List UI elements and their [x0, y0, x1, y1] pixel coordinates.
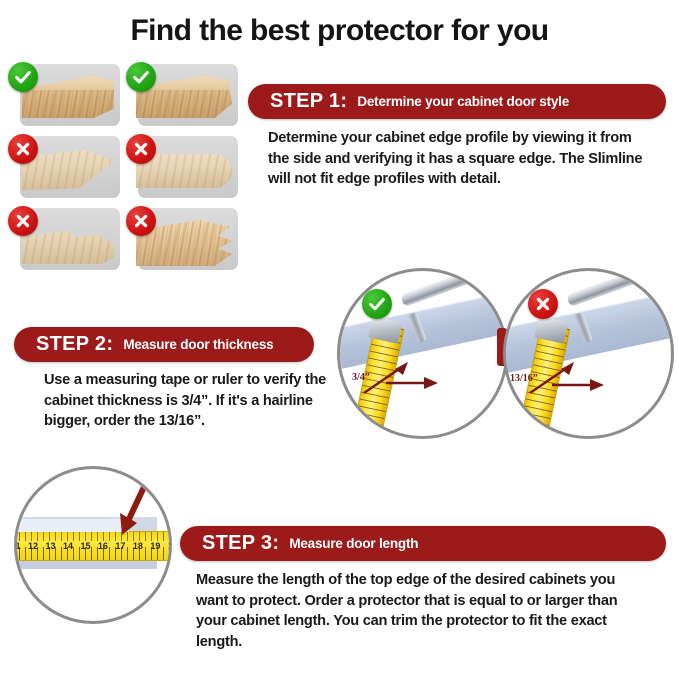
- x-icon: [8, 206, 38, 236]
- measurement-arrow-lower: [550, 377, 608, 393]
- thickness-oversize-figure: 13/16”: [503, 268, 674, 439]
- step-1-body: Determine your cabinet edge profile by v…: [268, 128, 650, 190]
- check-icon: [126, 62, 156, 92]
- step-1-heading: Determine your cabinet door style: [357, 94, 569, 109]
- ruler-mark-17: 17: [115, 541, 125, 551]
- figure-inner: 13/16”: [506, 271, 671, 436]
- step-3-number: STEP 3:: [202, 532, 279, 555]
- ruler-mark-16: 16: [98, 541, 108, 551]
- edge-profile-grid: [8, 62, 244, 274]
- profile-cell-detailed-edge-profile: [126, 206, 238, 272]
- step-1-number: STEP 1:: [270, 90, 347, 113]
- step-1-banner: STEP 1: Determine your cabinet door styl…: [248, 84, 666, 119]
- step-2-number: STEP 2:: [36, 333, 113, 356]
- ruler-mark-20: 20: [168, 541, 169, 551]
- measurement-arrow-lower: [384, 375, 442, 391]
- step-3-body: Measure the length of the top edge of th…: [196, 570, 626, 653]
- x-icon: [126, 134, 156, 164]
- thickness-correct-figure: 3/4”: [337, 268, 508, 439]
- check-icon: [8, 62, 38, 92]
- figure-inner: 11 12 13 14 15 16 17 18 19 20: [17, 469, 169, 621]
- ruler-mark-18: 18: [133, 541, 143, 551]
- profile-cell-ogee-edge-profile: [8, 206, 120, 272]
- page-title: Find the best protector for you: [0, 14, 679, 48]
- profile-cell-beveled-edge-profile: [8, 134, 120, 200]
- door-length-figure: 11 12 13 14 15 16 17 18 19 20: [14, 466, 172, 624]
- profile-cell-bullnose-edge-profile: [126, 134, 238, 200]
- ruler-mark-14: 14: [63, 541, 73, 551]
- ruler-mark-12: 12: [28, 541, 38, 551]
- ruler-mark-11: 11: [17, 541, 21, 551]
- check-icon: [362, 289, 392, 319]
- profile-cell-square-edge-profile: [8, 62, 120, 128]
- step-2-banner: STEP 2: Measure door thickness: [14, 327, 314, 362]
- ruler-mark-13: 13: [45, 541, 55, 551]
- ruler-mark-15: 15: [80, 541, 90, 551]
- x-icon: [126, 206, 156, 236]
- step-2-body: Use a measuring tape or ruler to verify …: [44, 370, 344, 432]
- ruler-mark-19: 19: [150, 541, 160, 551]
- x-icon: [528, 289, 558, 319]
- step-2-heading: Measure door thickness: [123, 337, 273, 352]
- figure-inner: 3/4”: [340, 271, 505, 436]
- infographic-page: Find the best protector for you: [0, 0, 679, 679]
- step-3-heading: Measure door length: [289, 536, 418, 551]
- thickness-label-oversize: 13/16”: [510, 373, 538, 384]
- step-3-banner: STEP 3: Measure door length: [180, 526, 666, 561]
- thickness-label-correct: 3/4”: [352, 372, 370, 383]
- x-icon: [8, 134, 38, 164]
- profile-cell-square-edge-profile-2: [126, 62, 238, 128]
- length-arrow: [113, 483, 153, 541]
